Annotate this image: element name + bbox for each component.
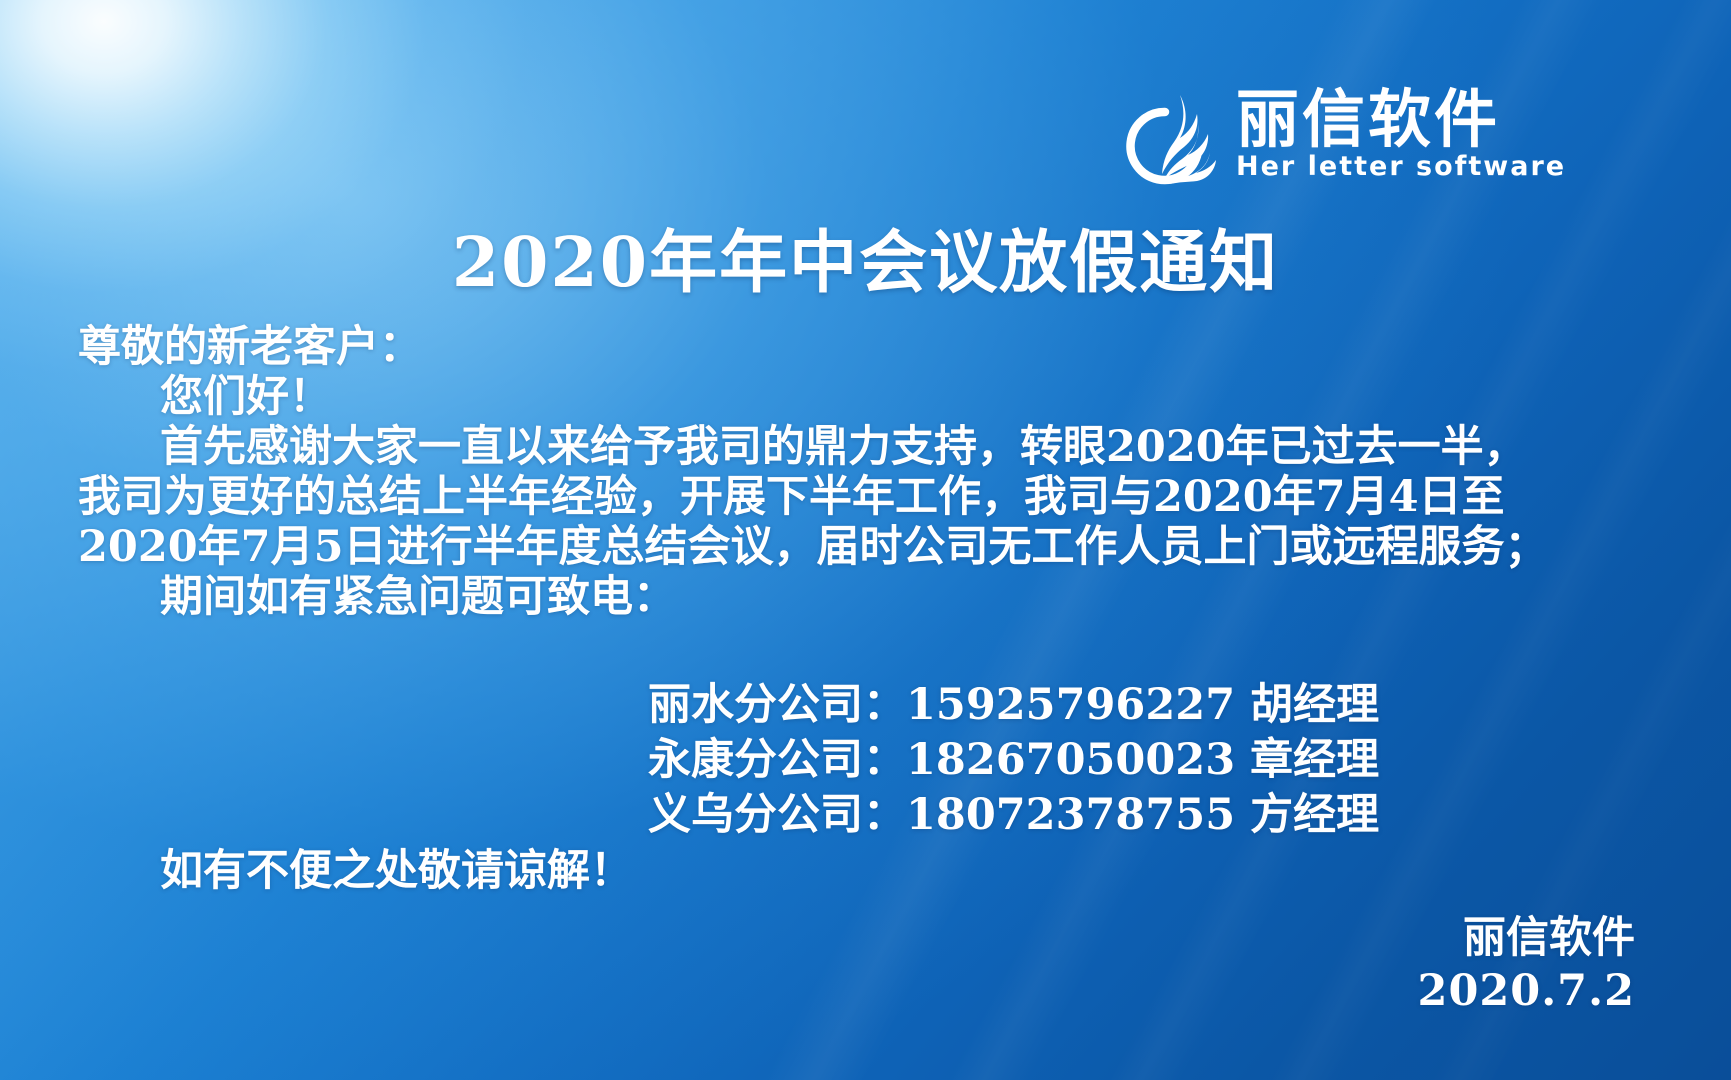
contact-row: 丽水分公司：15925796227 胡经理 [78, 678, 1668, 733]
contact-phone: 15925796227 [906, 680, 1235, 730]
contact-intro-line: 期间如有紧急问题可致电： [78, 572, 1668, 622]
paragraph-line-3: 2020年7月5日进行半年度总结会议，届时公司无工作人员上门或远程服务； [78, 522, 1668, 572]
notice-body: 尊敬的新老客户： 您们好！ 首先感谢大家一直以来给予我司的鼎力支持，转眼2020… [78, 322, 1668, 622]
signature-name: 丽信软件 [1418, 912, 1635, 965]
salutation-line: 尊敬的新老客户： [78, 322, 1668, 372]
closing-line: 如有不便之处敬请谅解！ [78, 845, 633, 897]
contact-list: 丽水分公司：15925796227 胡经理 永康分公司：18267050023 … [78, 678, 1668, 843]
page-title: 2020年年中会议放假通知 [0, 207, 1731, 306]
contact-manager: 章经理 [1250, 735, 1379, 785]
paragraph-line-1: 首先感谢大家一直以来给予我司的鼎力支持，转眼2020年已过去一半， [78, 422, 1668, 472]
contact-branch: 义乌分公司： [648, 790, 906, 840]
notice-poster: 丽信软件 Her letter software 2020年年中会议放假通知 尊… [0, 0, 1731, 1080]
signature-date: 2020.7.2 [1418, 965, 1635, 1018]
contact-phone: 18072378755 [906, 790, 1235, 840]
contact-branch: 丽水分公司： [648, 680, 906, 730]
contact-manager: 方经理 [1250, 790, 1379, 840]
brand-logo: 丽信软件 Her letter software [1118, 88, 1731, 194]
contact-phone: 18267050023 [906, 735, 1235, 785]
brand-logo-text: 丽信软件 Her letter software [1236, 88, 1731, 182]
brand-name-en: Her letter software [1236, 151, 1566, 182]
signature-block: 丽信软件 2020.7.2 [1418, 912, 1635, 1018]
contact-branch: 永康分公司： [648, 735, 906, 785]
flame-leaf-logo-icon [1118, 90, 1222, 194]
contact-row: 永康分公司：18267050023 章经理 [78, 733, 1668, 788]
paragraph-line-2: 我司为更好的总结上半年经验，开展下半年工作，我司与2020年7月4日至 [78, 472, 1668, 522]
brand-name-cn: 丽信软件 [1236, 83, 1500, 156]
contact-row: 义乌分公司：18072378755 方经理 [78, 788, 1668, 843]
contact-manager: 胡经理 [1250, 680, 1379, 730]
greeting-line: 您们好！ [78, 372, 1668, 422]
